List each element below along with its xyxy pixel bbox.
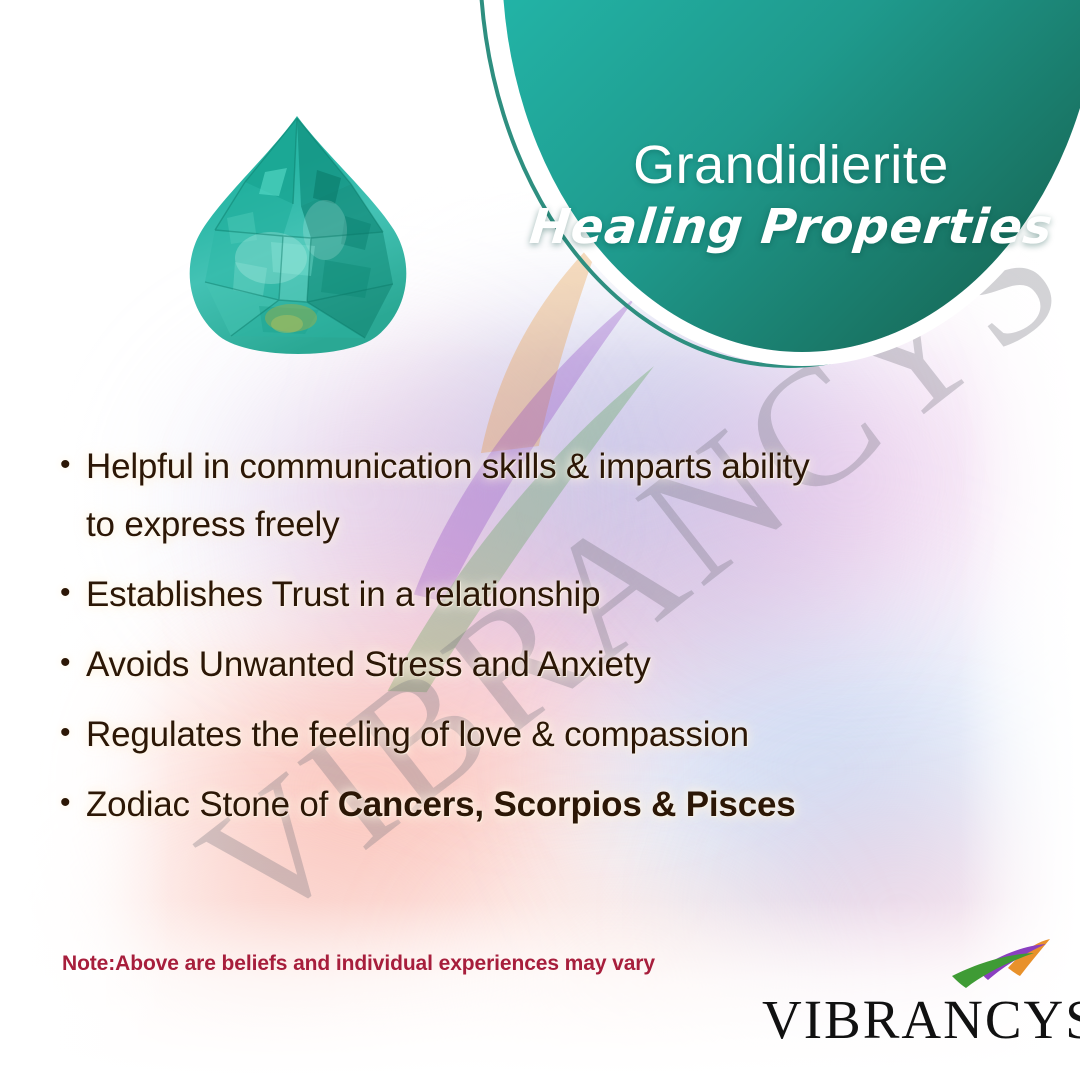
list-item: • Establishes Trust in a relationship <box>60 566 1040 624</box>
list-item: • Regulates the feeling of love & compas… <box>60 706 1040 764</box>
list-item-text-bold: Cancers, Scorpios & Pisces <box>338 785 796 824</box>
gem-body <box>175 112 420 362</box>
list-item-text: Avoids Unwanted Stress and Anxiety <box>86 636 651 694</box>
benefits-list: • Helpful in communication skills & impa… <box>60 438 1040 846</box>
list-item-text: Helpful in communication skills & impart… <box>86 438 810 496</box>
bullet-dot-icon: • <box>60 438 86 492</box>
list-item-text: Establishes Trust in a relationship <box>86 566 600 624</box>
bullet-dot-icon: • <box>60 706 86 760</box>
list-item-text-cont: to express freely <box>86 496 1040 554</box>
page-title: Grandidierite <box>633 137 949 194</box>
bullet-dot-icon: • <box>60 566 86 620</box>
logo-wordmark: VIBRANCYS <box>762 992 1062 1047</box>
grandidierite-gemstone <box>175 112 420 362</box>
list-item: • Zodiac Stone of Cancers, Scorpios & Pi… <box>60 776 1040 834</box>
list-item: • Avoids Unwanted Stress and Anxiety <box>60 636 1040 694</box>
list-item-text: Zodiac Stone of Cancers, Scorpios & Pisc… <box>86 776 796 834</box>
list-item-text: Regulates the feeling of love & compassi… <box>86 706 749 764</box>
page-subtitle: Healing Properties <box>527 199 1056 255</box>
infographic-card: VIBRANCYS Grandidierite Healing Properti… <box>0 0 1080 1080</box>
header-text-block: Grandidierite Healing Properties <box>502 0 1080 352</box>
disclaimer-note: Note:Above are beliefs and individual ex… <box>62 952 655 976</box>
bullet-dot-icon: • <box>60 636 86 690</box>
bullet-dot-icon: • <box>60 776 86 830</box>
brand-logo: VIBRANCYS <box>762 938 1062 1060</box>
list-item: • Helpful in communication skills & impa… <box>60 438 1040 554</box>
list-item-text-plain: Zodiac Stone of <box>86 785 338 824</box>
